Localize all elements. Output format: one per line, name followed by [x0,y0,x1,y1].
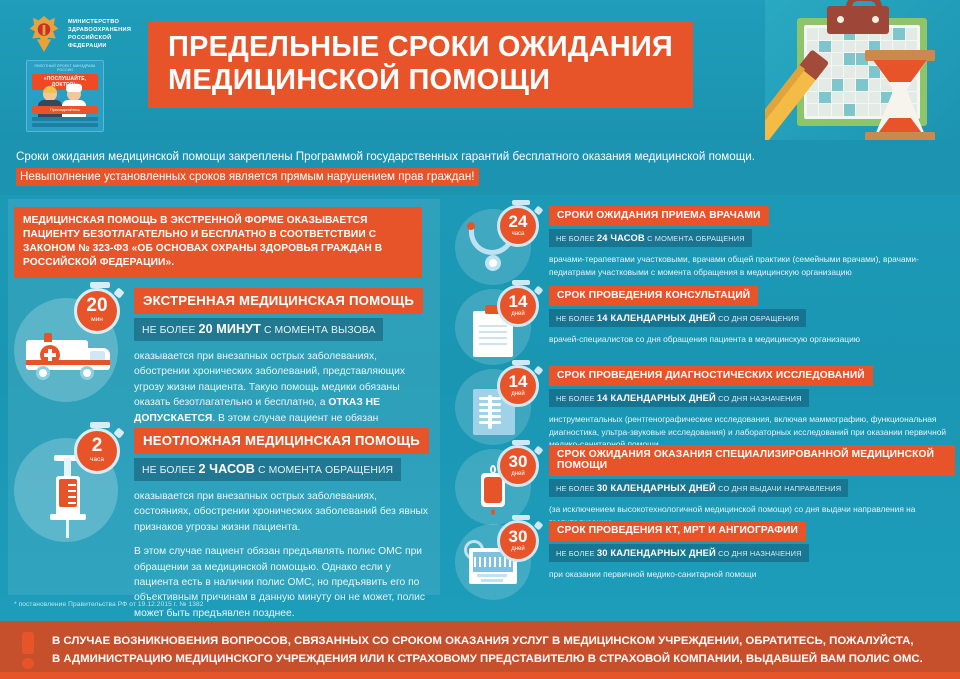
item-title: СРОК ПРОВЕДЕНИЯ КТ, МРТ И АНГИОГРАФИИ [549,521,806,541]
timer-badge-20min: 20 мин [74,288,120,334]
badge-unit: дней [500,391,536,397]
exclamation-icon [22,632,36,669]
badge-unit: часа [500,231,536,237]
badge-number: 14 [500,368,536,391]
footer-text: В СЛУЧАЕ ВОЗНИКНОВЕНИЯ ВОПРОСОВ, СВЯЗАНН… [52,632,923,668]
sub-suffix: С МОМЕНТА ОБРАЩЕНИЯ [647,234,745,243]
badge-number: 2 [77,431,117,456]
item-subtitle: НЕ БОЛЕЕ 14 КАЛЕНДАРНЫХ ДНЕЙ СО ДНЯ НАЗН… [549,389,809,407]
subtitle-line-2-highlight: Невыполнение установленных сроков являет… [16,168,479,186]
sub-suffix: СО ДНЯ НАЗНАЧЕНИЯ [718,549,801,558]
sub-prefix: НЕ БОЛЕЕ [556,314,595,323]
clipboard-clamp-icon [827,6,889,34]
sub-suffix: СО ДНЯ ОБРАЩЕНИЯ [718,314,799,323]
block-subtitle: НЕ БОЛЕЕ 2 ЧАСОВ С МОМЕНТА ОБРАЩЕНИЯ [134,458,401,481]
syringe-icon [48,458,88,538]
sub-value: 30 КАЛЕНДАРНЫХ ДНЕЙ [597,482,716,493]
item-body-text: врачами-терапевтами участковыми, врачами… [549,253,955,278]
block-title: ЭКСТРЕННАЯ МЕДИЦИНСКАЯ ПОМОЩЬ [134,288,423,314]
right-item-specialized-care: 30 дней СРОК ОЖИДАНИЯ ОКАЗАНИЯ СПЕЦИАЛИЗ… [455,445,955,528]
left-block-emergency: 20 мин ЭКСТРЕННАЯ МЕДИЦИНСКАЯ ПОМОЩЬ НЕ … [14,288,434,441]
block-title: НЕОТЛОЖНАЯ МЕДИЦИНСКАЯ ПОМОЩЬ [134,428,429,454]
badge-unit: дней [500,311,536,317]
item-subtitle: НЕ БОЛЕЕ 30 КАЛЕНДАРНЫХ ДНЕЙ СО ДНЯ НАЗН… [549,544,809,562]
sub-value: 24 ЧАСОВ [597,232,645,243]
promo-top-label: ПИЛОТНЫЙ ПРОЕКТ МИНЗДРАВА РОССИИ [27,61,103,72]
timer-badge-2h: 2 часа [74,428,120,474]
sub-suffix: С МОМЕНТА ВЫЗОВА [264,325,376,336]
item-subtitle: НЕ БОЛЕЕ 30 КАЛЕНДАРНЫХ ДНЕЙ СО ДНЯ ВЫДА… [549,479,848,497]
sub-prefix: НЕ БОЛЕЕ [142,465,195,476]
item-subtitle: НЕ БОЛЕЕ 24 ЧАСОВ С МОМЕНТА ОБРАЩЕНИЯ [549,229,752,247]
sub-prefix: НЕ БОЛЕЕ [142,325,195,336]
promo-cta[interactable]: Присоединяйтесь [32,106,98,114]
badge-unit: мин [77,316,117,323]
page-title: ПРЕДЕЛЬНЫЕ СРОКИ ОЖИДАНИЯ МЕДИЦИНСКОЙ ПО… [168,31,673,97]
badge-unit: дней [500,546,536,552]
item-title: СРОКИ ОЖИДАНИЯ ПРИЕМА ВРАЧАМИ [549,206,769,226]
promo-card[interactable]: ПИЛОТНЫЙ ПРОЕКТ МИНЗДРАВА РОССИИ «ПОСЛУШ… [26,60,104,132]
item-title: СРОК ОЖИДАНИЯ ОКАЗАНИЯ СПЕЦИАЛИЗИРОВАННО… [549,445,955,476]
footnote: * постановление Правительства РФ от 19.1… [14,601,204,608]
subtitle-banner: Сроки ожидания медицинской помощи закреп… [0,140,960,195]
badge-number: 20 [77,291,117,316]
item-title: СРОК ПРОВЕДЕНИЯ КОНСУЛЬТАЦИЙ [549,286,758,306]
body-paragraph-2: В этом случае пациент обязан предъявлять… [134,544,434,621]
sub-prefix: НЕ БОЛЕЕ [556,549,595,558]
left-block-urgent: 2 часа НЕОТЛОЖНАЯ МЕДИЦИНСКАЯ ПОМОЩЬ НЕ … [14,428,434,621]
emergency-law-note: МЕДИЦИНСКАЯ ПОМОЩЬ В ЭКСТРЕННОЙ ФОРМЕ ОК… [14,207,422,278]
sub-prefix: НЕ БОЛЕЕ [556,484,595,493]
badge-number: 14 [500,288,536,311]
promo-social-line-2[interactable] [32,123,98,127]
badge-unit: часа [77,456,117,463]
timer-badge-24h: 24 часа [497,205,539,247]
body-paragraph-1: оказывается при внезапных острых заболев… [134,489,434,535]
footer-line-2: В АДМИНИСТРАЦИЮ МЕДИЦИНСКОГО УЧРЕЖДЕНИЯ … [52,650,923,668]
footer-line-1: В СЛУЧАЕ ВОЗНИКНОВЕНИЯ ВОПРОСОВ, СВЯЗАНН… [52,632,923,650]
sub-value: 14 КАЛЕНДАРНЫХ ДНЕЙ [597,312,716,323]
header-illustration [765,0,960,140]
item-title: СРОК ПРОВЕДЕНИЯ ДИАГНОСТИЧЕСКИХ ИССЛЕДОВ… [549,366,873,386]
badge-unit: дней [500,471,536,477]
timer-badge-30d: 30 дней [497,445,539,487]
infographic-page: МИНИСТЕРСТВО ЗДРАВООХРАНЕНИЯ РОССИЙСКОЙ … [0,0,960,679]
sub-value: 30 КАЛЕНДАРНЫХ ДНЕЙ [597,547,716,558]
ministry-name: МИНИСТЕРСТВО ЗДРАВООХРАНЕНИЯ РОССИЙСКОЙ … [68,18,141,50]
badge-number: 30 [500,448,536,471]
hourglass-icon [871,50,929,140]
item-subtitle: НЕ БОЛЕЕ 14 КАЛЕНДАРНЫХ ДНЕЙ СО ДНЯ ОБРА… [549,309,806,327]
sub-suffix: СО ДНЯ ВЫДАЧИ НАПРАВЛЕНИЯ [718,484,841,493]
footer-banner: В СЛУЧАЕ ВОЗНИКНОВЕНИЯ ВОПРОСОВ, СВЯЗАНН… [0,621,960,679]
sub-prefix: НЕ БОЛЕЕ [556,234,595,243]
item-body-text: врачей-специалистов со дня обращения пац… [549,333,955,346]
timer-badge-30d: 30 дней [497,520,539,562]
subtitle-line-1: Сроки ожидания медицинской помощи закреп… [16,149,944,165]
sub-value: 2 ЧАСОВ [198,462,255,476]
item-body-text: при оказании первичной медико-санитарной… [549,568,955,581]
ministry-emblem: МИНИСТЕРСТВО ЗДРАВООХРАНЕНИЯ РОССИЙСКОЙ … [26,16,141,52]
sub-suffix: СО ДНЯ НАЗНАЧЕНИЯ [718,394,801,403]
badge-number: 24 [500,208,536,231]
sub-suffix: С МОМЕНТА ОБРАЩЕНИЯ [258,465,393,476]
title-box: ПРЕДЕЛЬНЫЕ СРОКИ ОЖИДАНИЯ МЕДИЦИНСКОЙ ПО… [148,22,693,108]
right-item-consultations: 14 дней СРОК ПРОВЕДЕНИЯ КОНСУЛЬТАЦИЙ НЕ … [455,285,955,346]
right-item-doctor-appointment: 24 часа СРОКИ ОЖИДАНИЯ ПРИЕМА ВРАЧАМИ НЕ… [455,205,955,278]
sub-prefix: НЕ БОЛЕЕ [556,394,595,403]
timer-badge-14d: 14 дней [497,285,539,327]
right-item-diagnostics: 14 дней СРОК ПРОВЕДЕНИЯ ДИАГНОСТИЧЕСКИХ … [455,365,955,451]
promo-social-line-1[interactable] [32,117,98,121]
right-item-ct-mri-angio: 30 дней СРОК ПРОВЕДЕНИЯ КТ, МРТ И АНГИОГ… [455,520,955,581]
block-subtitle: НЕ БОЛЕЕ 20 МИНУТ С МОМЕНТА ВЫЗОВА [134,318,383,341]
badge-number: 30 [500,523,536,546]
timer-badge-14d: 14 дней [497,365,539,407]
ambulance-icon [26,330,110,376]
header: МИНИСТЕРСТВО ЗДРАВООХРАНЕНИЯ РОССИЙСКОЙ … [0,0,960,140]
sub-value: 20 МИНУТ [198,322,260,336]
coat-of-arms-icon [26,14,62,54]
sub-value: 14 КАЛЕНДАРНЫХ ДНЕЙ [597,392,716,403]
